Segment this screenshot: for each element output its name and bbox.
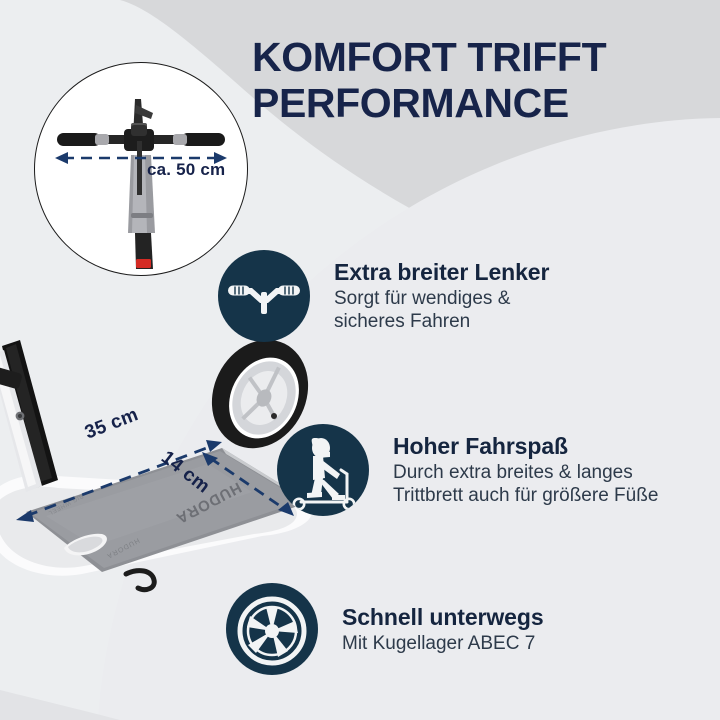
feature-text-fahrspass: Hoher Fahrspaß Durch extra breites & lan… [393,433,658,507]
infographic-canvas: KOMFORT TRIFFT PERFORMANCE [0,0,720,720]
title-line-2: PERFORMANCE [252,80,702,126]
feature-desc-line-2: Trittbrett auch für größere Füße [393,484,658,507]
feature-row-fahrspass: Hoher Fahrspaß Durch extra breites & lan… [277,424,658,516]
feature-text-schnell: Schnell unterwegs Mit Kugellager ABEC 7 [342,604,544,655]
feature-title: Hoher Fahrspaß [393,433,658,460]
scooter-rider-icon [277,424,369,516]
feature-desc-line-1: Sorgt für wendiges & [334,287,549,310]
page-title: KOMFORT TRIFFT PERFORMANCE [252,34,702,126]
feature-desc-line-1: Durch extra breites & langes [393,461,658,484]
feature-title: Schnell unterwegs [342,604,544,631]
feature-desc-line-1: Mit Kugellager ABEC 7 [342,632,544,655]
feature-row-handlebar: Extra breiter Lenker Sorgt für wendiges … [218,250,549,342]
handlebar-icon [218,250,310,342]
feature-title: Extra breiter Lenker [334,259,549,286]
feature-text-handlebar: Extra breiter Lenker Sorgt für wendiges … [334,259,549,333]
handlebar-closeup-circle: ca. 50 cm [34,62,248,276]
inset-dimension-label: ca. 50 cm [147,160,225,180]
title-line-1: KOMFORT TRIFFT [252,34,702,80]
feature-row-schnell: Schnell unterwegs Mit Kugellager ABEC 7 [226,583,544,675]
feature-desc-line-2: sicheres Fahren [334,310,549,333]
wheel-icon [226,583,318,675]
